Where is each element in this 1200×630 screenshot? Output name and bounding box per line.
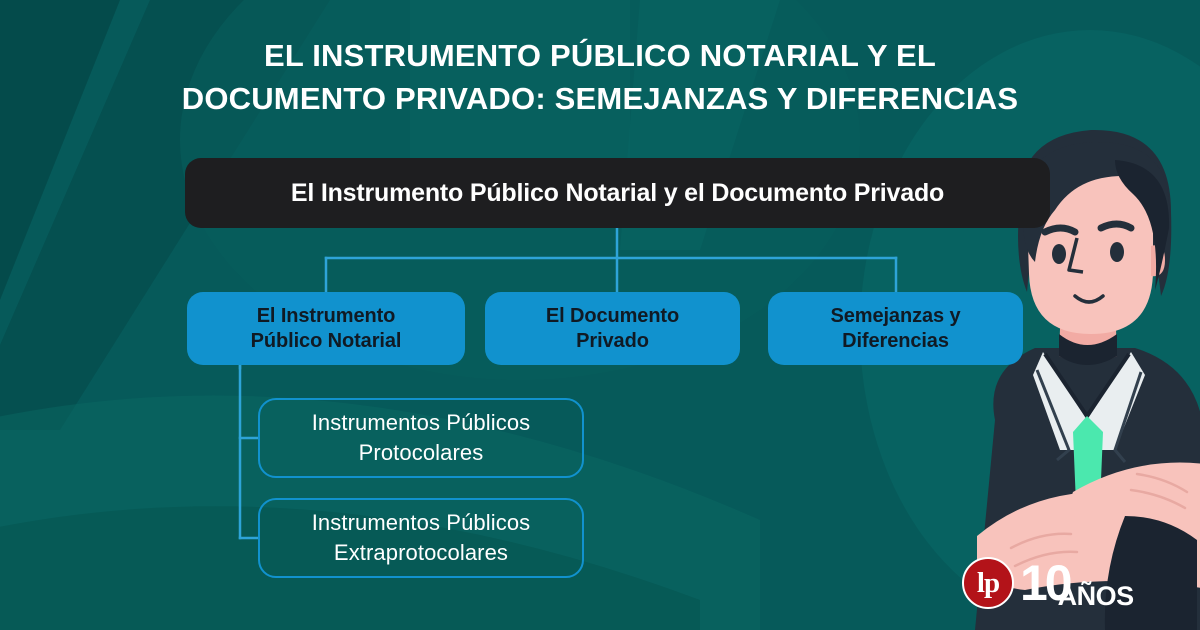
label-line-2: Diferencias bbox=[842, 330, 949, 352]
lp-logo-text: lp bbox=[977, 569, 999, 598]
label-line-1: El Documento bbox=[546, 305, 679, 327]
diagram-node-label: El Instrumento Público Notarial bbox=[241, 304, 412, 354]
page-title: EL INSTRUMENTO PÚBLICO NOTARIAL Y EL DOC… bbox=[0, 34, 1200, 120]
diagram-node-instrumentos-publicos-protocolares[interactable]: Instrumentos Públicos Protocolares bbox=[258, 398, 584, 478]
label-line-1: Instrumentos Públicos bbox=[312, 510, 531, 535]
label-line-1: El Instrumento bbox=[257, 305, 396, 327]
lp-logo-icon: lp bbox=[962, 557, 1014, 609]
page-title-line-1: EL INSTRUMENTO PÚBLICO NOTARIAL Y EL bbox=[0, 34, 1200, 77]
anniversary-word: AÑOS bbox=[1058, 583, 1134, 610]
diagram-node-label: Instrumentos Públicos Extraprotocolares bbox=[312, 508, 531, 568]
label-line-2: Protocolares bbox=[359, 440, 484, 465]
diagram-node-label: Semejanzas y Diferencias bbox=[821, 304, 971, 354]
diagram-root-node[interactable]: El Instrumento Público Notarial y el Doc… bbox=[185, 158, 1050, 228]
diagram-node-label: El Documento Privado bbox=[536, 304, 689, 354]
diagram-node-semejanzas-y-diferencias[interactable]: Semejanzas y Diferencias bbox=[768, 292, 1023, 365]
page-title-line-2: DOCUMENTO PRIVADO: SEMEJANZAS Y DIFERENC… bbox=[0, 77, 1200, 120]
label-line-2: Extraprotocolares bbox=[334, 540, 508, 565]
diagram-node-label: Instrumentos Públicos Protocolares bbox=[312, 408, 531, 468]
diagram-node-instrumento-publico-notarial[interactable]: El Instrumento Público Notarial bbox=[187, 292, 465, 365]
label-line-2: Privado bbox=[576, 330, 649, 352]
diagram-node-instrumentos-publicos-extraprotocolares[interactable]: Instrumentos Públicos Extraprotocolares bbox=[258, 498, 584, 578]
brand-logo[interactable]: lp 10 AÑOS bbox=[962, 552, 1192, 614]
diagram-root-label: El Instrumento Público Notarial y el Doc… bbox=[291, 179, 944, 208]
label-line-2: Público Notarial bbox=[251, 330, 402, 352]
label-line-1: Semejanzas y bbox=[831, 305, 961, 327]
diagram-node-documento-privado[interactable]: El Documento Privado bbox=[485, 292, 740, 365]
label-line-1: Instrumentos Públicos bbox=[312, 410, 531, 435]
